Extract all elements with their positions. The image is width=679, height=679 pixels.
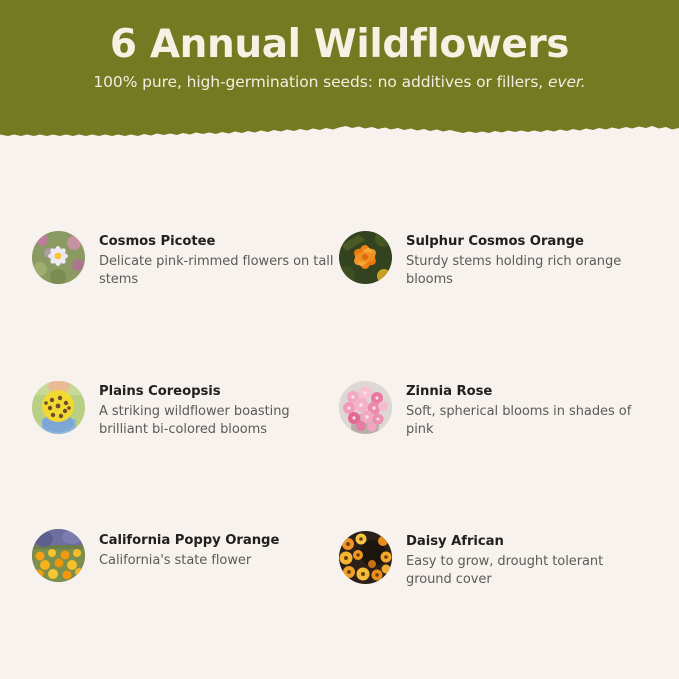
page-title: 6 Annual Wildflowers <box>0 0 679 67</box>
list-item-zinnia-rose[interactable]: Zinnia Rose Soft, spherical blooms in sh… <box>339 362 679 512</box>
cosmos-picotee-text: Cosmos Picotee Delicate pink-rimmed flow… <box>99 212 337 290</box>
banner-content: 6 Annual Wildflowers 100% pure, high-ger… <box>0 0 679 91</box>
daisy-african-thumbnail <box>339 531 392 584</box>
list-item-description: Soft, spherical blooms in shades of pink <box>406 401 638 440</box>
list-item-name: California Poppy Orange <box>99 532 279 550</box>
page-subtitle: 100% pure, high-germination seeds: no ad… <box>0 67 679 91</box>
plains-coreopsis-thumbnail <box>32 381 85 434</box>
cosmos-picotee-image <box>32 231 85 284</box>
list-item-description: Easy to grow, drought tolerant ground co… <box>406 551 638 590</box>
zinnia-rose-image <box>339 381 392 434</box>
list-item-description: A striking wildflower boasting brilliant… <box>99 401 337 440</box>
list-item-description: California's state flower <box>99 550 279 570</box>
list-item-name: Cosmos Picotee <box>99 233 337 251</box>
california-poppy-orange-thumbnail <box>32 529 85 582</box>
daisy-african-text: Daisy African Easy to grow, drought tole… <box>406 512 638 590</box>
subtitle-main-text: 100% pure, high-germination seeds: no ad… <box>93 73 543 91</box>
zinnia-rose-thumbnail <box>339 381 392 434</box>
sulphur-cosmos-orange-image <box>339 231 392 284</box>
california-poppy-orange-image <box>32 529 85 582</box>
sulphur-cosmos-orange-thumbnail <box>339 231 392 284</box>
list-item-plains-coreopsis[interactable]: Plains Coreopsis A striking wildflower b… <box>32 362 339 512</box>
list-item-california-poppy-orange[interactable]: California Poppy Orange California's sta… <box>32 512 339 662</box>
list-item-name: Sulphur Cosmos Orange <box>406 233 638 251</box>
zinnia-rose-text: Zinnia Rose Soft, spherical blooms in sh… <box>406 362 638 440</box>
list-item-cosmos-picotee[interactable]: Cosmos Picotee Delicate pink-rimmed flow… <box>32 212 339 362</box>
plains-coreopsis-image <box>32 381 85 434</box>
plains-coreopsis-text: Plains Coreopsis A striking wildflower b… <box>99 362 337 440</box>
california-poppy-orange-text: California Poppy Orange California's sta… <box>99 512 279 570</box>
wildflower-list: Cosmos Picotee Delicate pink-rimmed flow… <box>0 212 679 662</box>
cosmos-picotee-thumbnail <box>32 231 85 284</box>
list-item-description: Sturdy stems holding rich orange blooms <box>406 251 638 290</box>
page-banner: 6 Annual Wildflowers 100% pure, high-ger… <box>0 0 679 148</box>
list-item-name: Plains Coreopsis <box>99 383 337 401</box>
daisy-african-image <box>339 531 392 584</box>
list-item-name: Zinnia Rose <box>406 383 638 401</box>
list-item-name: Daisy African <box>406 533 638 551</box>
list-item-description: Delicate pink-rimmed flowers on tall ste… <box>99 251 337 290</box>
sulphur-cosmos-orange-text: Sulphur Cosmos Orange Sturdy stems holdi… <box>406 212 638 290</box>
list-item-sulphur-cosmos-orange[interactable]: Sulphur Cosmos Orange Sturdy stems holdi… <box>339 212 679 362</box>
subtitle-emphasis-text: ever. <box>548 73 586 91</box>
list-item-daisy-african[interactable]: Daisy African Easy to grow, drought tole… <box>339 512 679 662</box>
torn-paper-edge <box>0 115 679 148</box>
